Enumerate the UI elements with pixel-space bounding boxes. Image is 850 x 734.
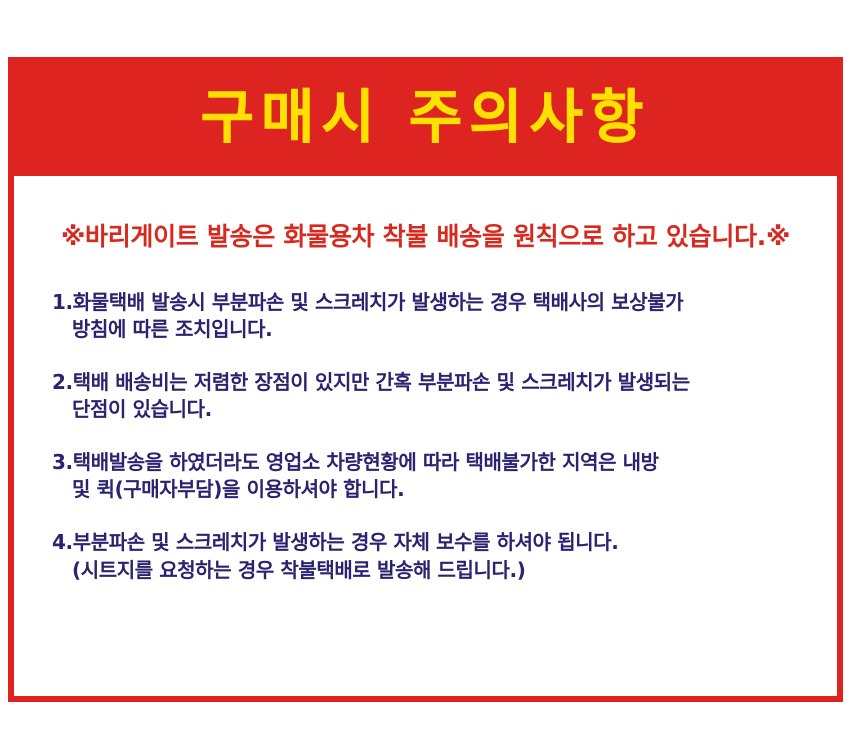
list-item: 1.화물택배 발송시 부분파손 및 스크레치가 발생하는 경우 택배사의 보상불…	[52, 289, 837, 344]
list-item: 2.택배 배송비는 저렴한 장점이 있지만 간혹 부분파손 및 스크레치가 발생…	[52, 369, 837, 424]
notice-item-3-line-1: 3.택배발송을 하였더라도 영업소 차량현황에 따라 택배불가한 지역은 내방	[52, 449, 837, 477]
shipping-policy-subtitle: ※바리게이트 발송은 화물용차 착불 배송을 원칙으로 하고 있습니다.※	[14, 223, 837, 251]
notice-item-3-line-2: 및 퀵(구매자부담)을 이용하셔야 합니다.	[52, 476, 837, 504]
notice-header-banner: 구매시 주의사항	[8, 57, 843, 176]
notice-item-2-line-1: 2.택배 배송비는 저렴한 장점이 있지만 간혹 부분파손 및 스크레치가 발생…	[52, 369, 837, 397]
notice-item-4-line-1: 4.부분파손 및 스크레치가 발생하는 경우 자체 보수를 하셔야 됩니다.	[52, 529, 837, 557]
list-item: 3.택배발송을 하였더라도 영업소 차량현황에 따라 택배불가한 지역은 내방 …	[52, 449, 837, 504]
notice-item-2-line-2: 단점이 있습니다.	[52, 396, 837, 424]
notice-body: ※바리게이트 발송은 화물용차 착불 배송을 원칙으로 하고 있습니다.※ 1.…	[14, 176, 837, 696]
purchase-notice-card: 구매시 주의사항 ※바리게이트 발송은 화물용차 착불 배송을 원칙으로 하고 …	[8, 57, 843, 702]
notice-item-4-line-2: (시트지를 요청하는 경우 착불택배로 발송해 드립니다.)	[52, 557, 837, 585]
page-title: 구매시 주의사항	[201, 88, 651, 146]
notice-list: 1.화물택배 발송시 부분파손 및 스크레치가 발생하는 경우 택배사의 보상불…	[14, 251, 837, 585]
notice-item-1-line-1: 1.화물택배 발송시 부분파손 및 스크레치가 발생하는 경우 택배사의 보상불…	[52, 289, 837, 317]
list-item: 4.부분파손 및 스크레치가 발생하는 경우 자체 보수를 하셔야 됩니다. (…	[52, 529, 837, 584]
notice-item-1-line-2: 방침에 따른 조치입니다.	[52, 316, 837, 344]
